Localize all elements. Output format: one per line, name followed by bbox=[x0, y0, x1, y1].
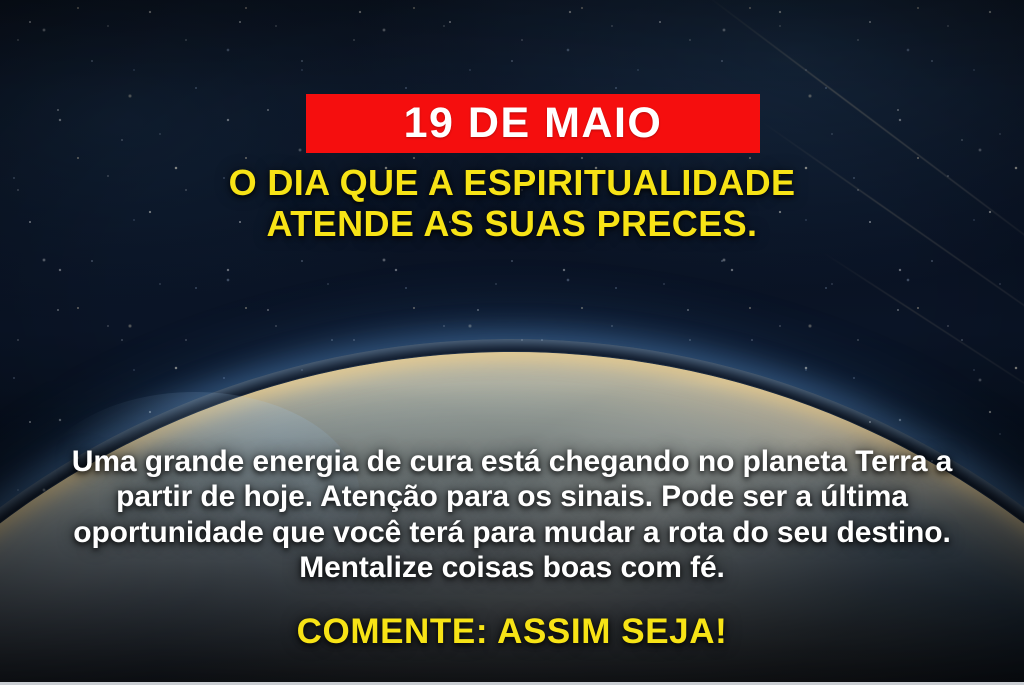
call-to-action-label: COMENTE: ASSIM SEJA! bbox=[0, 612, 1024, 652]
poster-content: 19 DE MAIO O DIA QUE A ESPIRITUALIDADE A… bbox=[0, 0, 1024, 685]
headline-line-1: O DIA QUE A ESPIRITUALIDADE bbox=[229, 162, 796, 203]
date-banner: 19 DE MAIO bbox=[306, 94, 760, 153]
body-paragraph: Uma grande energia de cura está chegando… bbox=[50, 444, 974, 586]
headline-line-2: ATENDE AS SUAS PRECES. bbox=[0, 204, 1024, 245]
headline: O DIA QUE A ESPIRITUALIDADE ATENDE AS SU… bbox=[0, 163, 1024, 244]
poster-canvas: 19 DE MAIO O DIA QUE A ESPIRITUALIDADE A… bbox=[0, 0, 1024, 685]
date-banner-label: 19 DE MAIO bbox=[404, 102, 663, 145]
